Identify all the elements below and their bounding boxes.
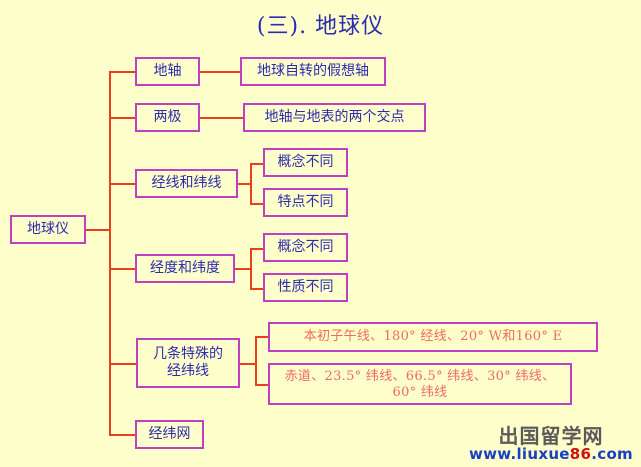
connector-fan4-vertical (250, 248, 252, 290)
node-branch-liangji[interactable]: 两极 (135, 103, 200, 132)
connector-leaf-1 (200, 71, 240, 73)
node-leaf-liangji-def[interactable]: 地轴与地表的两个交点 (243, 103, 426, 132)
node-leaf-jingdu-nature[interactable]: 性质不同 (263, 273, 348, 302)
page-title: (三). 地球仪 (0, 8, 641, 40)
node-leaf-liangji-def-label: 地轴与地表的两个交点 (265, 109, 405, 127)
node-leaf-special-meridians[interactable]: 本初子午线、180° 经线、20° W和160° E (268, 322, 598, 352)
node-branch-jingdu-weidu-label: 经度和纬度 (150, 260, 220, 278)
node-branch-jingxian-weixian[interactable]: 经线和纬线 (135, 169, 238, 198)
node-root-label: 地球仪 (27, 221, 69, 239)
node-leaf-special-parallels[interactable]: 赤道、23.5° 纬线、66.5° 纬线、30° 纬线、60° 纬线 (268, 363, 572, 405)
node-leaf-special-parallels-label: 赤道、23.5° 纬线、66.5° 纬线、30° 纬线、60° 纬线 (276, 369, 564, 402)
node-leaf-jingdu-nature-label: 性质不同 (278, 279, 334, 297)
connector-branch-4 (109, 268, 136, 270)
node-branch-special-lines-label-line2: 经纬线 (167, 363, 209, 381)
node-leaf-jingxian-concept[interactable]: 概念不同 (263, 148, 348, 177)
node-branch-jingweiwang[interactable]: 经纬网 (135, 420, 204, 449)
diagram-canvas: (三). 地球仪 地球仪 地轴 两极 经线和纬线 经度和纬度 几 (0, 0, 641, 467)
connector-fan3-top (250, 163, 264, 165)
node-leaf-dizhou-def[interactable]: 地球自转的假想轴 (240, 57, 386, 86)
connector-branch-1 (109, 71, 136, 73)
watermark-url-highlight: 86 (570, 445, 591, 463)
node-branch-jingweiwang-label: 经纬网 (149, 426, 191, 444)
node-branch-jingxian-weixian-label: 经线和纬线 (152, 175, 222, 193)
connector-branch-5 (109, 363, 136, 365)
watermark: 出国留学网 www.liuxue86.com (469, 426, 633, 463)
connector-leaf-2 (200, 117, 243, 119)
node-leaf-jingdu-concept[interactable]: 概念不同 (263, 233, 348, 262)
node-branch-dizhou-label: 地轴 (154, 63, 182, 81)
connector-branch-2 (109, 117, 136, 119)
connector-fan5-top (255, 336, 269, 338)
connector-main-trunk (109, 71, 111, 435)
node-branch-dizhou[interactable]: 地轴 (135, 57, 200, 86)
node-leaf-jingdu-concept-label: 概念不同 (278, 239, 334, 257)
node-leaf-jingxian-feature-label: 特点不同 (278, 194, 334, 212)
watermark-url-prefix: www.liuxue (469, 445, 570, 463)
watermark-site-name: 出国留学网 (469, 426, 633, 447)
connector-fan4-top (250, 248, 264, 250)
node-branch-special-lines[interactable]: 几条特殊的 经纬线 (136, 338, 240, 388)
node-branch-liangji-label: 两极 (154, 109, 182, 127)
node-branch-jingdu-weidu[interactable]: 经度和纬度 (135, 254, 235, 283)
node-leaf-jingxian-concept-label: 概念不同 (278, 154, 334, 172)
node-leaf-jingxian-feature[interactable]: 特点不同 (263, 188, 348, 217)
connector-fan3-vertical (250, 163, 252, 205)
watermark-url-suffix: .com (591, 445, 633, 463)
watermark-url: www.liuxue86.com (469, 447, 633, 463)
node-leaf-dizhou-def-label: 地球自转的假想轴 (257, 63, 369, 81)
node-leaf-special-meridians-label: 本初子午线、180° 经线、20° W和160° E (304, 329, 563, 345)
connector-root-stem (86, 229, 111, 231)
connector-branch-6 (109, 434, 136, 436)
connector-branch-3 (109, 183, 136, 185)
connector-fan5-bottom (255, 384, 269, 386)
connector-fan3-bottom (250, 203, 264, 205)
connector-fan4-bottom (250, 288, 264, 290)
node-branch-special-lines-label-line1: 几条特殊的 (153, 346, 223, 364)
connector-fan5-vertical (255, 336, 257, 386)
node-root[interactable]: 地球仪 (10, 215, 86, 244)
